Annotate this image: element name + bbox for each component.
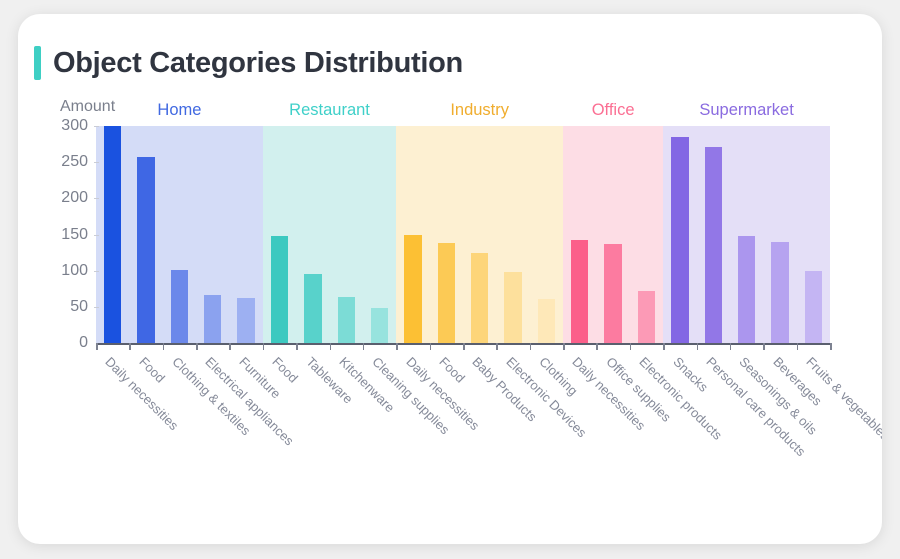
group-label-supermarket: Supermarket	[699, 101, 793, 120]
bar[interactable]	[771, 242, 788, 343]
bar[interactable]	[638, 291, 655, 343]
y-gridline-stub	[94, 198, 99, 199]
y-tick-label: 100	[48, 262, 88, 280]
x-tick	[797, 343, 799, 350]
bar[interactable]	[604, 244, 621, 343]
y-tick-label: 250	[48, 153, 88, 171]
x-tick	[363, 343, 365, 350]
x-tick	[129, 343, 131, 350]
x-tick	[730, 343, 732, 350]
y-tick-label: 200	[48, 189, 88, 207]
y-gridline-stub	[94, 235, 99, 236]
bar[interactable]	[104, 126, 121, 343]
y-axis-tick-labels: 050100150200250300	[44, 14, 88, 544]
bar[interactable]	[538, 299, 555, 343]
x-tick	[496, 343, 498, 350]
bar[interactable]	[671, 137, 688, 343]
y-gridline-stub	[94, 162, 99, 163]
bar[interactable]	[237, 298, 254, 343]
x-tick	[530, 343, 532, 350]
y-tick-label: 0	[48, 334, 88, 352]
bar[interactable]	[438, 243, 455, 343]
x-tick	[763, 343, 765, 350]
bar[interactable]	[304, 274, 321, 343]
x-tick	[563, 343, 565, 350]
group-label-office: Office	[592, 101, 635, 120]
x-tick	[430, 343, 432, 350]
x-tick	[663, 343, 665, 350]
bar[interactable]	[204, 295, 221, 343]
y-tick-label: 300	[48, 117, 88, 135]
plot-area: HomeRestaurantIndustryOfficeSupermarket	[96, 126, 830, 343]
x-tick-label: Food	[136, 354, 168, 386]
group-label-industry: Industry	[450, 101, 509, 120]
x-tick	[229, 343, 231, 350]
bar[interactable]	[504, 272, 521, 343]
title-accent-bar	[34, 46, 41, 80]
bar[interactable]	[738, 236, 755, 343]
bar[interactable]	[371, 308, 388, 343]
y-gridline-stub	[94, 307, 99, 308]
x-tick	[196, 343, 198, 350]
page-title: Object Categories Distribution	[34, 46, 463, 80]
y-gridline-stub	[94, 126, 99, 127]
group-label-home: Home	[157, 101, 201, 120]
x-tick	[163, 343, 165, 350]
x-tick	[697, 343, 699, 350]
y-tick-label: 50	[48, 298, 88, 316]
bar[interactable]	[171, 270, 188, 343]
group-label-restaurant: Restaurant	[289, 101, 370, 120]
x-tick	[630, 343, 632, 350]
x-tick	[830, 343, 832, 350]
x-tick	[96, 343, 98, 350]
x-tick	[263, 343, 265, 350]
x-tick	[396, 343, 398, 350]
y-gridline-stub	[94, 271, 99, 272]
bar[interactable]	[338, 297, 355, 343]
x-tick	[596, 343, 598, 350]
bar[interactable]	[805, 271, 822, 343]
bar[interactable]	[271, 236, 288, 343]
x-tick	[463, 343, 465, 350]
bar[interactable]	[404, 235, 421, 344]
bar[interactable]	[471, 253, 488, 343]
y-tick-label: 150	[48, 226, 88, 244]
bar[interactable]	[137, 157, 154, 343]
bar[interactable]	[571, 240, 588, 343]
x-tick	[296, 343, 298, 350]
chart-card: Object Categories Distribution Amount 05…	[18, 14, 882, 544]
bar[interactable]	[705, 147, 722, 343]
page-title-text: Object Categories Distribution	[53, 47, 463, 80]
x-tick	[330, 343, 332, 350]
